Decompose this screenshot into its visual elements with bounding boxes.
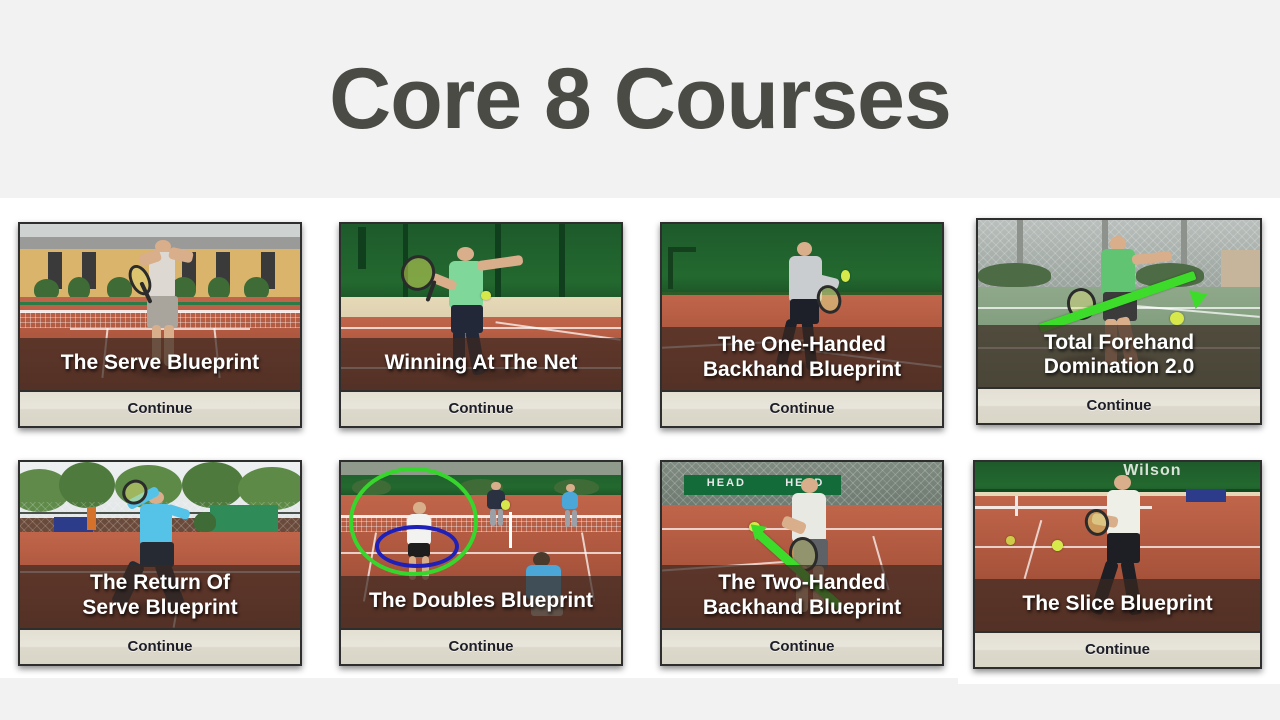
course-card-doubles-blueprint[interactable]: The Doubles Blueprint Continue xyxy=(339,460,623,666)
course-thumbnail-total-forehand-domination: Total Forehand Domination 2.0 xyxy=(978,220,1260,387)
course-thumbnail-slice-blueprint: Wilson xyxy=(975,462,1260,631)
course-card-return-of-serve-blueprint[interactable]: The Return Of Serve Blueprint Continue xyxy=(18,460,302,666)
course-caption: The Return Of Serve Blueprint xyxy=(20,565,300,627)
course-caption: The Serve Blueprint xyxy=(20,338,300,390)
course-title: Winning At The Net xyxy=(385,351,578,375)
continue-button-return-of-serve-blueprint[interactable]: Continue xyxy=(20,628,300,664)
continue-button-serve-blueprint[interactable]: Continue xyxy=(20,390,300,426)
course-caption: The Two-Handed Backhand Blueprint xyxy=(662,565,942,627)
continue-label: Continue xyxy=(1085,641,1150,658)
course-card-one-handed-backhand-blueprint[interactable]: The One-Handed Backhand Blueprint Contin… xyxy=(660,222,944,428)
course-caption: Total Forehand Domination 2.0 xyxy=(978,325,1260,387)
course-card-winning-at-the-net[interactable]: Winning At The Net Continue xyxy=(339,222,623,428)
course-thumbnail-winning-at-the-net: Winning At The Net xyxy=(341,224,621,390)
course-card-two-handed-backhand-blueprint[interactable]: HEAD HEAD xyxy=(660,460,944,666)
course-title: Total Forehand Domination 2.0 xyxy=(1044,331,1195,379)
course-catalog-page: Core 8 Courses xyxy=(0,0,1280,720)
course-thumbnail-serve-blueprint: The Serve Blueprint xyxy=(20,224,300,390)
course-title: The Return Of Serve Blueprint xyxy=(82,571,237,619)
continue-button-two-handed-backhand-blueprint[interactable]: Continue xyxy=(662,628,942,664)
course-title: The Slice Blueprint xyxy=(1022,592,1212,616)
continue-label: Continue xyxy=(770,638,835,655)
course-card-slice-blueprint[interactable]: Wilson xyxy=(973,460,1262,669)
continue-label: Continue xyxy=(128,638,193,655)
course-thumbnail-return-of-serve: The Return Of Serve Blueprint xyxy=(20,462,300,628)
course-title: The Two-Handed Backhand Blueprint xyxy=(703,571,901,619)
page-header: Core 8 Courses xyxy=(0,0,1280,198)
continue-button-winning-at-the-net[interactable]: Continue xyxy=(341,390,621,426)
continue-label: Continue xyxy=(128,400,193,417)
page-title: Core 8 Courses xyxy=(329,56,951,142)
head-banner-text: HEAD xyxy=(707,477,746,489)
course-card-serve-blueprint[interactable]: The Serve Blueprint Continue xyxy=(18,222,302,428)
course-caption: The Doubles Blueprint xyxy=(341,576,621,628)
course-thumbnail-doubles-blueprint: The Doubles Blueprint xyxy=(341,462,621,628)
course-thumbnail-two-handed-backhand: HEAD HEAD xyxy=(662,462,942,628)
continue-label: Continue xyxy=(1087,397,1152,414)
course-caption: The One-Handed Backhand Blueprint xyxy=(662,327,942,389)
footwork-highlight-blue xyxy=(375,525,459,568)
continue-button-doubles-blueprint[interactable]: Continue xyxy=(341,628,621,664)
course-caption: The Slice Blueprint xyxy=(975,579,1260,631)
course-title: The One-Handed Backhand Blueprint xyxy=(703,333,901,381)
course-thumbnail-one-handed-backhand: The One-Handed Backhand Blueprint xyxy=(662,224,942,390)
course-caption: Winning At The Net xyxy=(341,338,621,390)
continue-label: Continue xyxy=(449,400,514,417)
continue-button-one-handed-backhand-blueprint[interactable]: Continue xyxy=(662,390,942,426)
course-card-total-forehand-domination-2[interactable]: Total Forehand Domination 2.0 Continue xyxy=(976,218,1262,425)
course-title: The Doubles Blueprint xyxy=(369,589,593,613)
continue-button-slice-blueprint[interactable]: Continue xyxy=(975,631,1260,667)
continue-label: Continue xyxy=(770,400,835,417)
course-title: The Serve Blueprint xyxy=(61,351,259,375)
continue-button-total-forehand-domination-2[interactable]: Continue xyxy=(978,387,1260,423)
continue-label: Continue xyxy=(449,638,514,655)
